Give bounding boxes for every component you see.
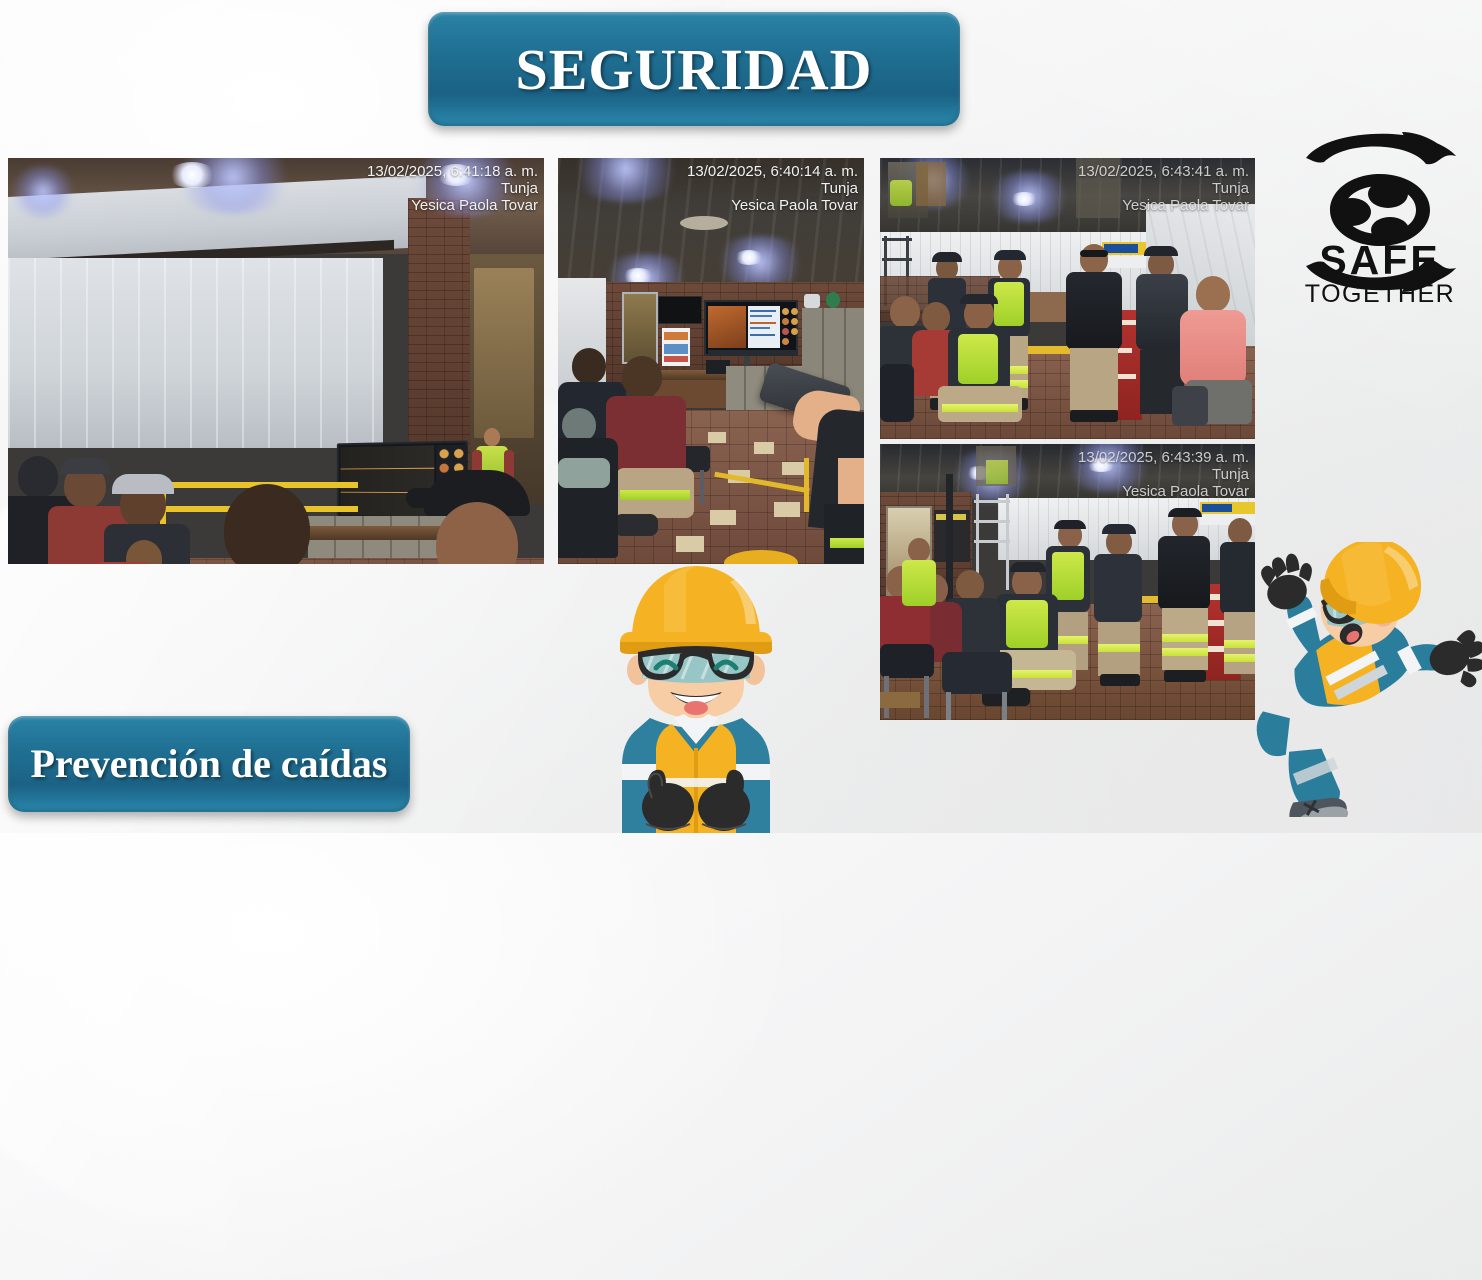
worker-thumbs-up-icon xyxy=(598,552,794,833)
photo-4-stamp-author: Yesica Paola Tovar xyxy=(1078,484,1249,501)
photo-3-stamp-location: Tunja xyxy=(1078,181,1249,198)
photo-2-stamp: 13/02/2025, 6:40:14 a. m. Tunja Yesica P… xyxy=(687,164,858,214)
photo-4-stamp-datetime: 13/02/2025, 6:43:39 a. m. xyxy=(1078,450,1249,467)
photo-4: 13/02/2025, 6:43:39 a. m. Tunja Yesica P… xyxy=(880,444,1255,720)
subject-title: Prevención de caídas xyxy=(8,716,410,812)
worker-falling-illustration xyxy=(1248,542,1482,817)
photo-2-stamp-author: Yesica Paola Tovar xyxy=(687,198,858,215)
logo-name-safe: SAFE xyxy=(1290,240,1470,281)
photo-2-stamp-datetime: 13/02/2025, 6:40:14 a. m. xyxy=(687,164,858,181)
photo-3-stamp-author: Yesica Paola Tovar xyxy=(1078,198,1249,215)
photo-3: 13/02/2025, 6:43:41 a. m. Tunja Yesica P… xyxy=(880,158,1255,439)
photo-3-stamp-datetime: 13/02/2025, 6:43:41 a. m. xyxy=(1078,164,1249,181)
page-title: SEGURIDAD xyxy=(428,12,960,126)
photo-4-stamp: 13/02/2025, 6:43:39 a. m. Tunja Yesica P… xyxy=(1078,450,1249,500)
photo-4-stamp-location: Tunja xyxy=(1078,467,1249,484)
photo-1: 13/02/2025, 6:41:18 a. m. Tunja Yesica P… xyxy=(8,158,544,564)
photo-2: 13/02/2025, 6:40:14 a. m. Tunja Yesica P… xyxy=(558,158,864,564)
photo-3-stamp: 13/02/2025, 6:43:41 a. m. Tunja Yesica P… xyxy=(1078,164,1249,214)
logo-name-together: TOGETHER xyxy=(1290,281,1470,309)
photo-1-stamp-location: Tunja xyxy=(367,181,538,198)
photo-2-stamp-location: Tunja xyxy=(687,181,858,198)
worker-thumbs-up-illustration xyxy=(598,552,794,833)
worker-falling-icon xyxy=(1248,542,1482,817)
photo-1-stamp-author: Yesica Paola Tovar xyxy=(367,198,538,215)
safe-together-logo: SAFE TOGETHER xyxy=(1290,112,1470,312)
photo-1-stamp-datetime: 13/02/2025, 6:41:18 a. m. xyxy=(367,164,538,181)
photo-1-stamp: 13/02/2025, 6:41:18 a. m. Tunja Yesica P… xyxy=(367,164,538,214)
